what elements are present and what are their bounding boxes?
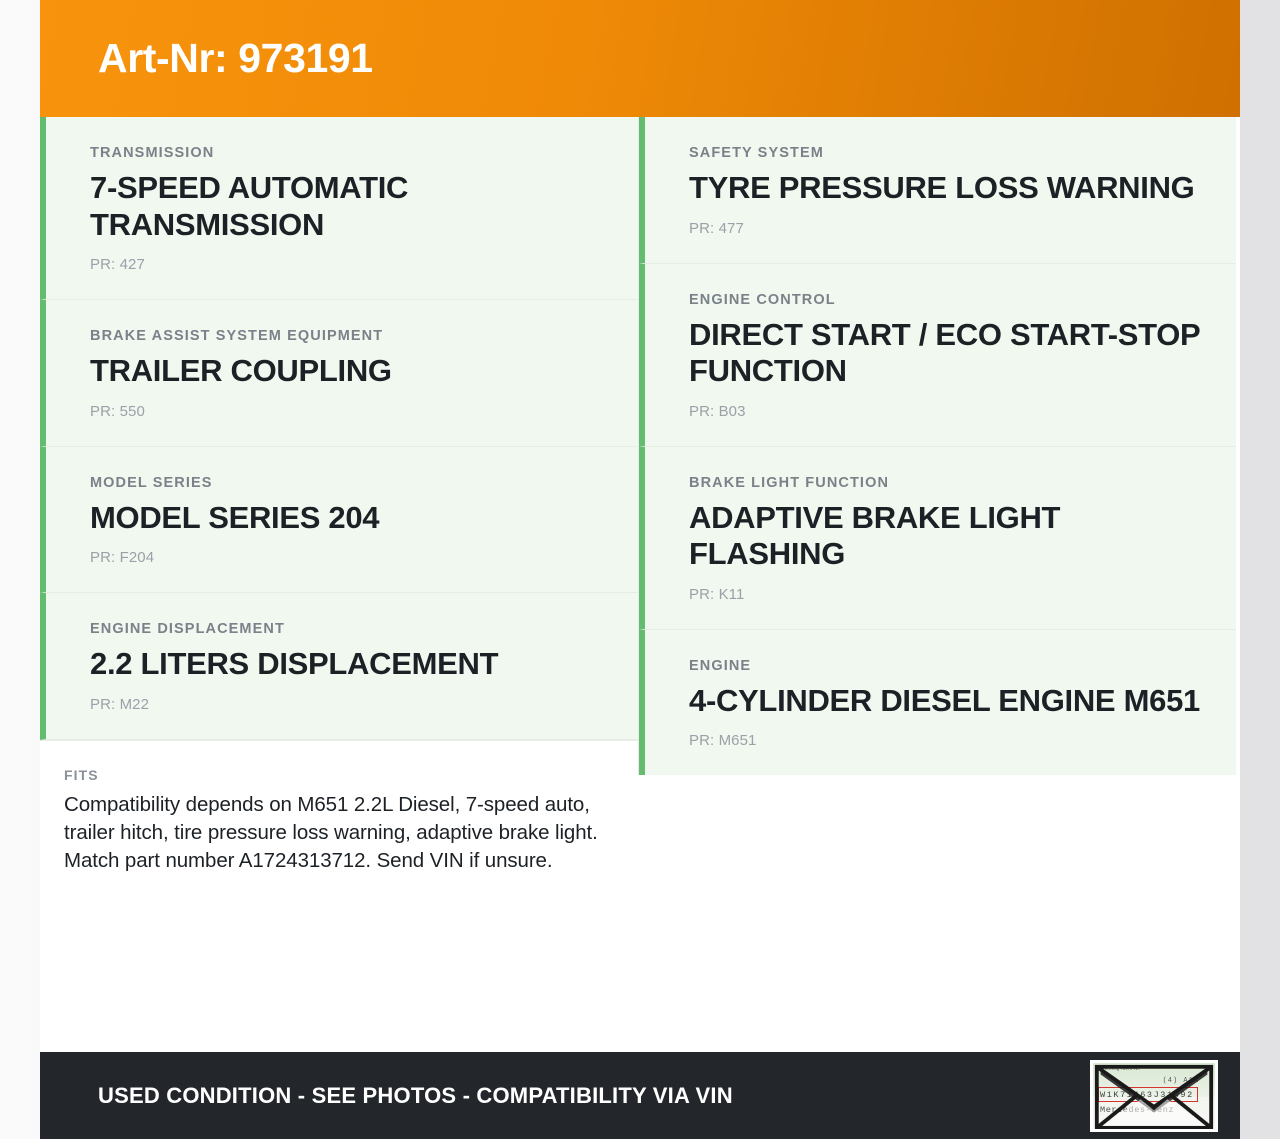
spec-item: MODEL SERIES MODEL SERIES 204 PR: F204: [40, 447, 638, 594]
spec-pr-code: PR: M22: [90, 696, 610, 713]
spec-label: MODEL SERIES: [90, 475, 610, 491]
spec-pr-code: PR: K11: [689, 586, 1208, 603]
spec-value: 2.2 LITERS DISPLACEMENT: [90, 646, 610, 683]
spec-column-left: TRANSMISSION 7-SPEED AUTOMATIC TRANSMISS…: [40, 117, 638, 900]
broken-image-envelope-icon: [1093, 1063, 1215, 1132]
spec-label: SAFETY SYSTEM: [689, 145, 1208, 161]
spec-columns: TRANSMISSION 7-SPEED AUTOMATIC TRANSMISS…: [40, 117, 1240, 1052]
condition-footer: USED CONDITION - SEE PHOTOS - COMPATIBIL…: [40, 1052, 1240, 1139]
spec-value: TRAILER COUPLING: [90, 353, 610, 390]
spec-label: ENGINE CONTROL: [689, 292, 1208, 308]
spec-pr-code: PR: 427: [90, 256, 610, 273]
fits-section: FITS Compatibility depends on M651 2.2L …: [40, 740, 638, 900]
spec-pr-code: PR: 477: [689, 220, 1208, 237]
spec-item: ENGINE CONTROL DIRECT START / ECO START-…: [639, 264, 1236, 447]
fits-label: FITS: [64, 767, 608, 783]
spec-value: 4-CYLINDER DIESEL ENGINE M651: [689, 683, 1208, 720]
spec-item: ENGINE 4-CYLINDER DIESEL ENGINE M651 PR:…: [639, 630, 1236, 776]
spec-item: SAFETY SYSTEM TYRE PRESSURE LOSS WARNING…: [639, 117, 1236, 264]
spec-pr-code: PR: B03: [689, 403, 1208, 420]
spec-pr-code: PR: F204: [90, 549, 610, 566]
spec-item: BRAKE ASSIST SYSTEM EQUIPMENT TRAILER CO…: [40, 300, 638, 447]
spec-label: ENGINE: [689, 658, 1208, 674]
vin-document-thumbnail[interactable]: Fahrzeug-Ident-Nr. (4) A1A W1K71463J3149…: [1090, 1060, 1218, 1132]
spec-pr-code: PR: 550: [90, 403, 610, 420]
spec-value: 7-SPEED AUTOMATIC TRANSMISSION: [90, 170, 610, 243]
condition-banner-text: USED CONDITION - SEE PHOTOS - COMPATIBIL…: [98, 1083, 733, 1109]
spec-label: TRANSMISSION: [90, 145, 610, 161]
page-title: Art-Nr: 973191: [98, 38, 373, 79]
spec-item: ENGINE DISPLACEMENT 2.2 LITERS DISPLACEM…: [40, 593, 638, 740]
spec-label: ENGINE DISPLACEMENT: [90, 621, 610, 637]
spec-pr-code: PR: M651: [689, 732, 1208, 749]
listing-card: Art-Nr: 973191 TRANSMISSION 7-SPEED AUTO…: [40, 0, 1240, 1139]
spec-value: ADAPTIVE BRAKE LIGHT FLASHING: [689, 500, 1208, 573]
fits-description: Compatibility depends on M651 2.2L Diese…: [64, 791, 608, 876]
spec-value: TYRE PRESSURE LOSS WARNING: [689, 170, 1208, 207]
article-number-header: Art-Nr: 973191: [40, 0, 1240, 117]
spec-label: BRAKE LIGHT FUNCTION: [689, 475, 1208, 491]
spec-value: MODEL SERIES 204: [90, 500, 610, 537]
spec-label: BRAKE ASSIST SYSTEM EQUIPMENT: [90, 328, 610, 344]
spec-item: BRAKE LIGHT FUNCTION ADAPTIVE BRAKE LIGH…: [639, 447, 1236, 630]
spec-item: TRANSMISSION 7-SPEED AUTOMATIC TRANSMISS…: [40, 117, 638, 300]
spec-column-right: SAFETY SYSTEM TYRE PRESSURE LOSS WARNING…: [638, 117, 1236, 775]
spec-value: DIRECT START / ECO START-STOP FUNCTION: [689, 317, 1208, 390]
